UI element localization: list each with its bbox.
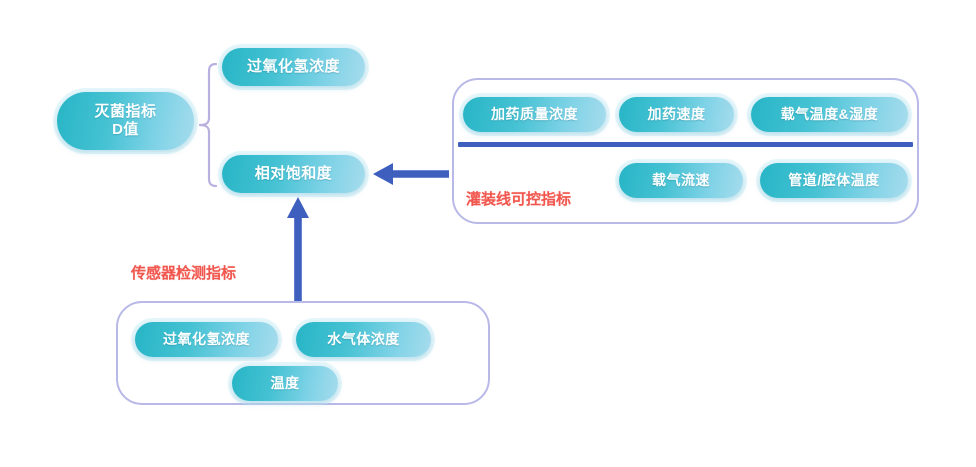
arrow-up-icon [286,196,310,302]
node-sensor-temperature-label: 温度 [271,375,300,392]
sensor-panel-annotation: 传感器检测指标 [131,262,236,283]
node-dosing-speed[interactable]: 加药速度 [619,97,734,132]
sensor-panel-annotation-text: 传感器检测指标 [131,265,236,282]
node-pipe-chamber-temperature[interactable]: 管道/腔体温度 [760,163,908,198]
node-pipe-chamber-temperature-label: 管道/腔体温度 [788,172,879,189]
node-carrier-gas-flow-rate-label: 载气流速 [652,172,710,189]
arrow-left-icon [371,162,449,186]
node-sterilization-index[interactable]: 灭菌指标 D值 [57,92,194,150]
node-carrier-gas-temp-humidity-label: 载气温度&湿度 [781,106,879,123]
curly-brace-icon [196,62,222,188]
diagram-canvas: 灭菌指标 D值 过氧化氢浓度 相对饱和度 加药质量浓度 加药速度 载气温度&湿度 [0,0,976,467]
control-panel-annotation: 灌装线可控指标 [466,188,571,209]
node-dosing-speed-label: 加药速度 [648,106,706,123]
node-sterilization-index-line2: D值 [112,121,139,139]
node-carrier-gas-temp-humidity[interactable]: 载气温度&湿度 [751,97,908,132]
node-sensor-temperature[interactable]: 温度 [232,366,338,401]
node-carrier-gas-flow-rate[interactable]: 载气流速 [619,163,743,198]
node-dosing-mass-concentration[interactable]: 加药质量浓度 [463,97,606,132]
control-panel-divider [458,142,913,147]
node-relative-saturation-label: 相对饱和度 [255,165,333,183]
node-hydrogen-peroxide-concentration[interactable]: 过氧化氢浓度 [222,48,365,86]
control-panel-annotation-text: 灌装线可控指标 [466,191,571,208]
node-hydrogen-peroxide-concentration-label: 过氧化氢浓度 [247,58,340,76]
node-sensor-water-vapor-concentration[interactable]: 水气体浓度 [296,322,431,357]
node-sensor-hydrogen-peroxide-concentration[interactable]: 过氧化氢浓度 [135,322,278,357]
node-dosing-mass-concentration-label: 加药质量浓度 [491,106,578,123]
node-relative-saturation[interactable]: 相对饱和度 [222,155,365,193]
node-sensor-hydrogen-peroxide-concentration-label: 过氧化氢浓度 [163,331,250,348]
node-sensor-water-vapor-concentration-label: 水气体浓度 [327,331,400,348]
node-sterilization-index-line1: 灭菌指标 [94,103,156,121]
